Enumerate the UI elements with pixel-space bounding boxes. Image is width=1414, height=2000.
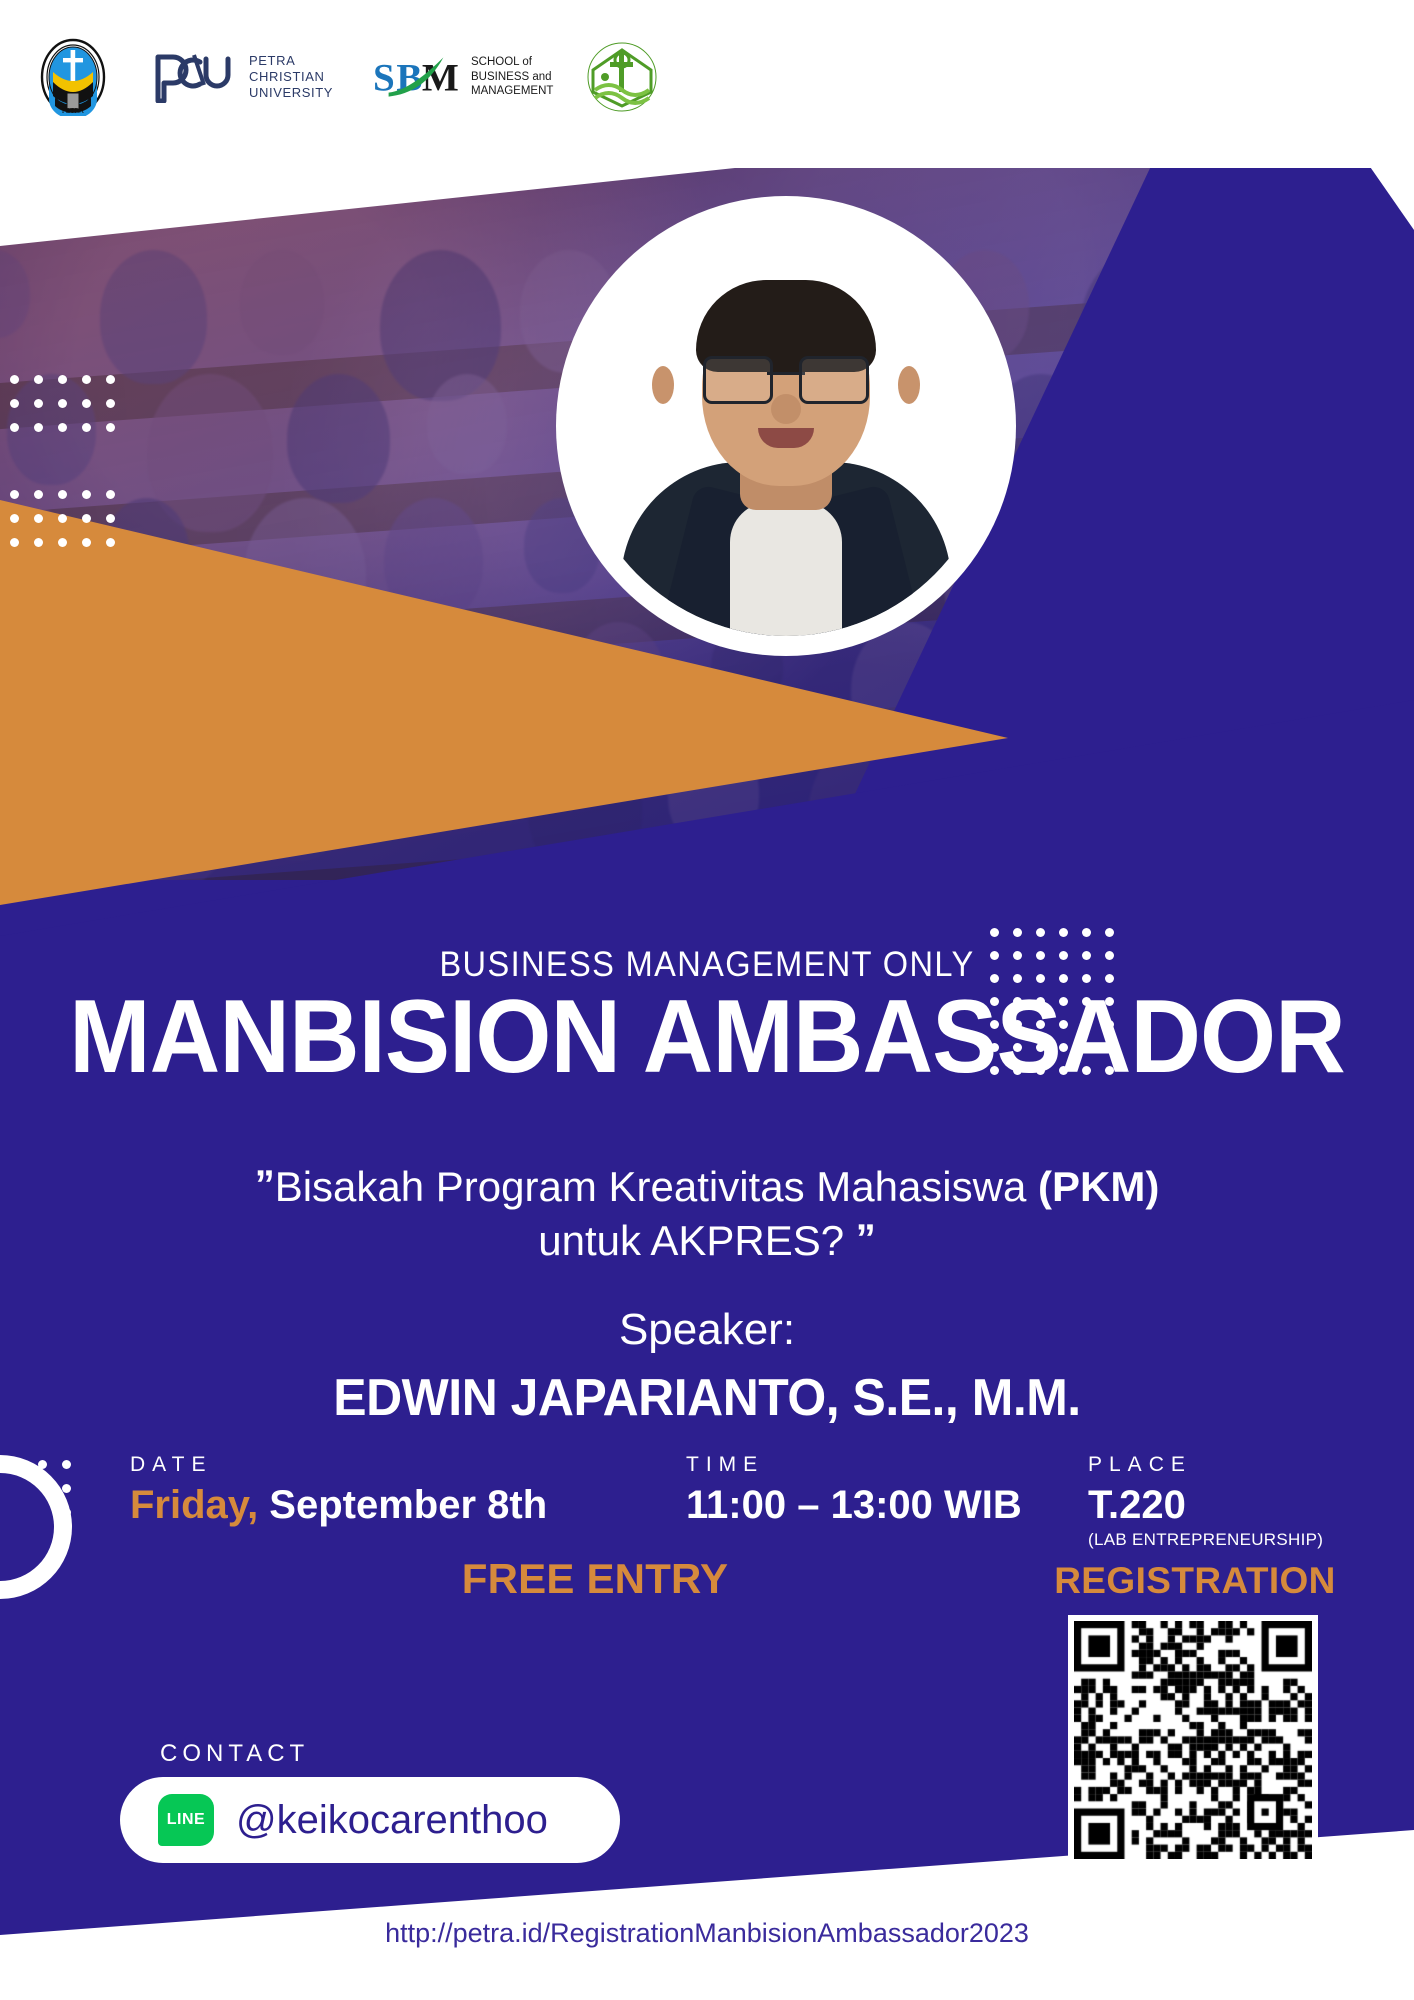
detail-date-rest: September 8th [258, 1483, 547, 1527]
speaker-name: EDWIN JAPARIANTO, S.E., M.M. [28, 1368, 1385, 1428]
detail-place: PLACE T.220 (LAB ENTREPRENEURSHIP) [1088, 1453, 1323, 1550]
detail-date: DATE Friday, September 8th [130, 1453, 547, 1528]
detail-place-value: T.220 [1088, 1483, 1323, 1528]
detail-date-value: Friday, September 8th [130, 1483, 547, 1528]
quote-line1-plain: Bisakah Program Kreativitas Mahasiswa [275, 1163, 1038, 1210]
quote-line1-bold: (PKM) [1038, 1163, 1159, 1210]
detail-time-caption: TIME [686, 1453, 1022, 1477]
event-question-quote: ”Bisakah Program Kreativitas Mahasiswa (… [90, 1160, 1324, 1268]
registration-label: REGISTRATION [1030, 1560, 1360, 1602]
detail-date-caption: DATE [130, 1453, 547, 1477]
event-poster: PETRA PETRA CHRISTIAN UNIVERSITY S [0, 0, 1414, 2000]
registration-qr-code[interactable] [1068, 1615, 1318, 1865]
detail-time-value: 11:00 – 13:00 WIB [686, 1483, 1022, 1528]
detail-date-day: Friday, [130, 1483, 258, 1527]
free-entry-badge: FREE ENTRY [380, 1555, 810, 1603]
quote-line2: untuk AKPRES? [538, 1217, 856, 1264]
detail-place-caption: PLACE [1088, 1453, 1323, 1477]
speaker-label: Speaker: [0, 1305, 1414, 1355]
page-title: MANBISION AMBASSADOR [42, 985, 1371, 1089]
quote-open-mark: ” [255, 1163, 275, 1207]
contact-line-pill[interactable]: LINE @keikocarenthoo [120, 1777, 620, 1863]
quote-close-mark: ” [856, 1217, 876, 1261]
registration-url[interactable]: http://petra.id/RegistrationManbisionAmb… [0, 1918, 1414, 1949]
contact-caption: CONTACT [160, 1740, 309, 1768]
line-icon: LINE [158, 1794, 214, 1846]
contact-handle: @keikocarenthoo [236, 1798, 548, 1843]
detail-place-sub: (LAB ENTREPRENEURSHIP) [1088, 1530, 1323, 1550]
line-icon-label: LINE [167, 1811, 205, 1829]
detail-time: TIME 11:00 – 13:00 WIB [686, 1453, 1022, 1528]
